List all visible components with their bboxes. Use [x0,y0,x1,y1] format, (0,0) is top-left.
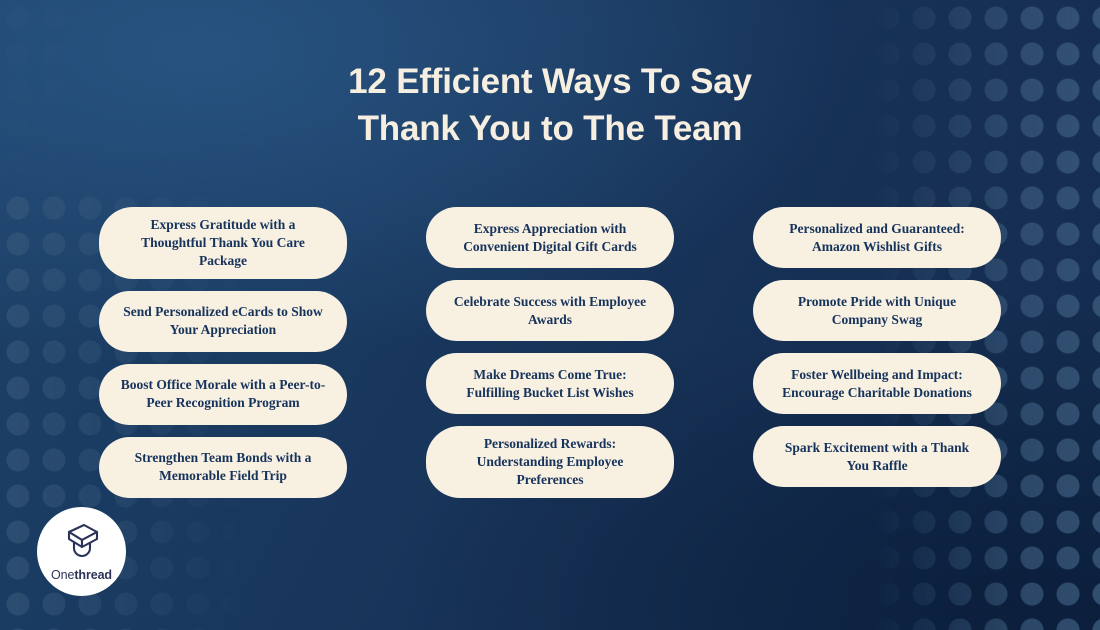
page-title-line-1: 12 Efficient Ways To Say [0,58,1100,105]
infographic-canvas: 12 Efficient Ways To Say Thank You to Th… [0,0,1100,630]
page-title: 12 Efficient Ways To Say Thank You to Th… [0,58,1100,153]
card-item: Make Dreams Come True: Fulfilling Bucket… [426,353,674,414]
card-item: Strengthen Team Bonds with a Memorable F… [99,437,347,498]
logo-name-light: One [51,568,74,582]
onethread-logo: Onethread [37,507,126,596]
card-item: Foster Wellbeing and Impact: Encourage C… [753,353,1001,414]
card-item: Personalized and Guaranteed: Amazon Wish… [753,207,1001,268]
card-column-2: Express Appreciation with Convenient Dig… [426,207,674,498]
card-item: Send Personalized eCards to Show Your Ap… [99,291,347,352]
card-item: Express Appreciation with Convenient Dig… [426,207,674,268]
logo-name-bold: thread [74,568,112,582]
card-column-1: Express Gratitude with a Thoughtful Than… [99,207,347,498]
card-item: Boost Office Morale with a Peer-to-Peer … [99,364,347,425]
card-item: Promote Pride with Unique Company Swag [753,280,1001,341]
onethread-wordmark: Onethread [51,569,112,582]
card-grid: Express Gratitude with a Thoughtful Than… [99,207,1001,498]
page-title-line-2: Thank You to The Team [0,105,1100,152]
card-column-3: Personalized and Guaranteed: Amazon Wish… [753,207,1001,498]
card-item: Celebrate Success with Employee Awards [426,280,674,341]
card-item: Spark Excitement with a Thank You Raffle [753,426,1001,487]
card-item: Express Gratitude with a Thoughtful Than… [99,207,347,279]
onethread-isometric-block-icon [60,521,104,566]
card-item: Personalized Rewards: Understanding Empl… [426,426,674,498]
